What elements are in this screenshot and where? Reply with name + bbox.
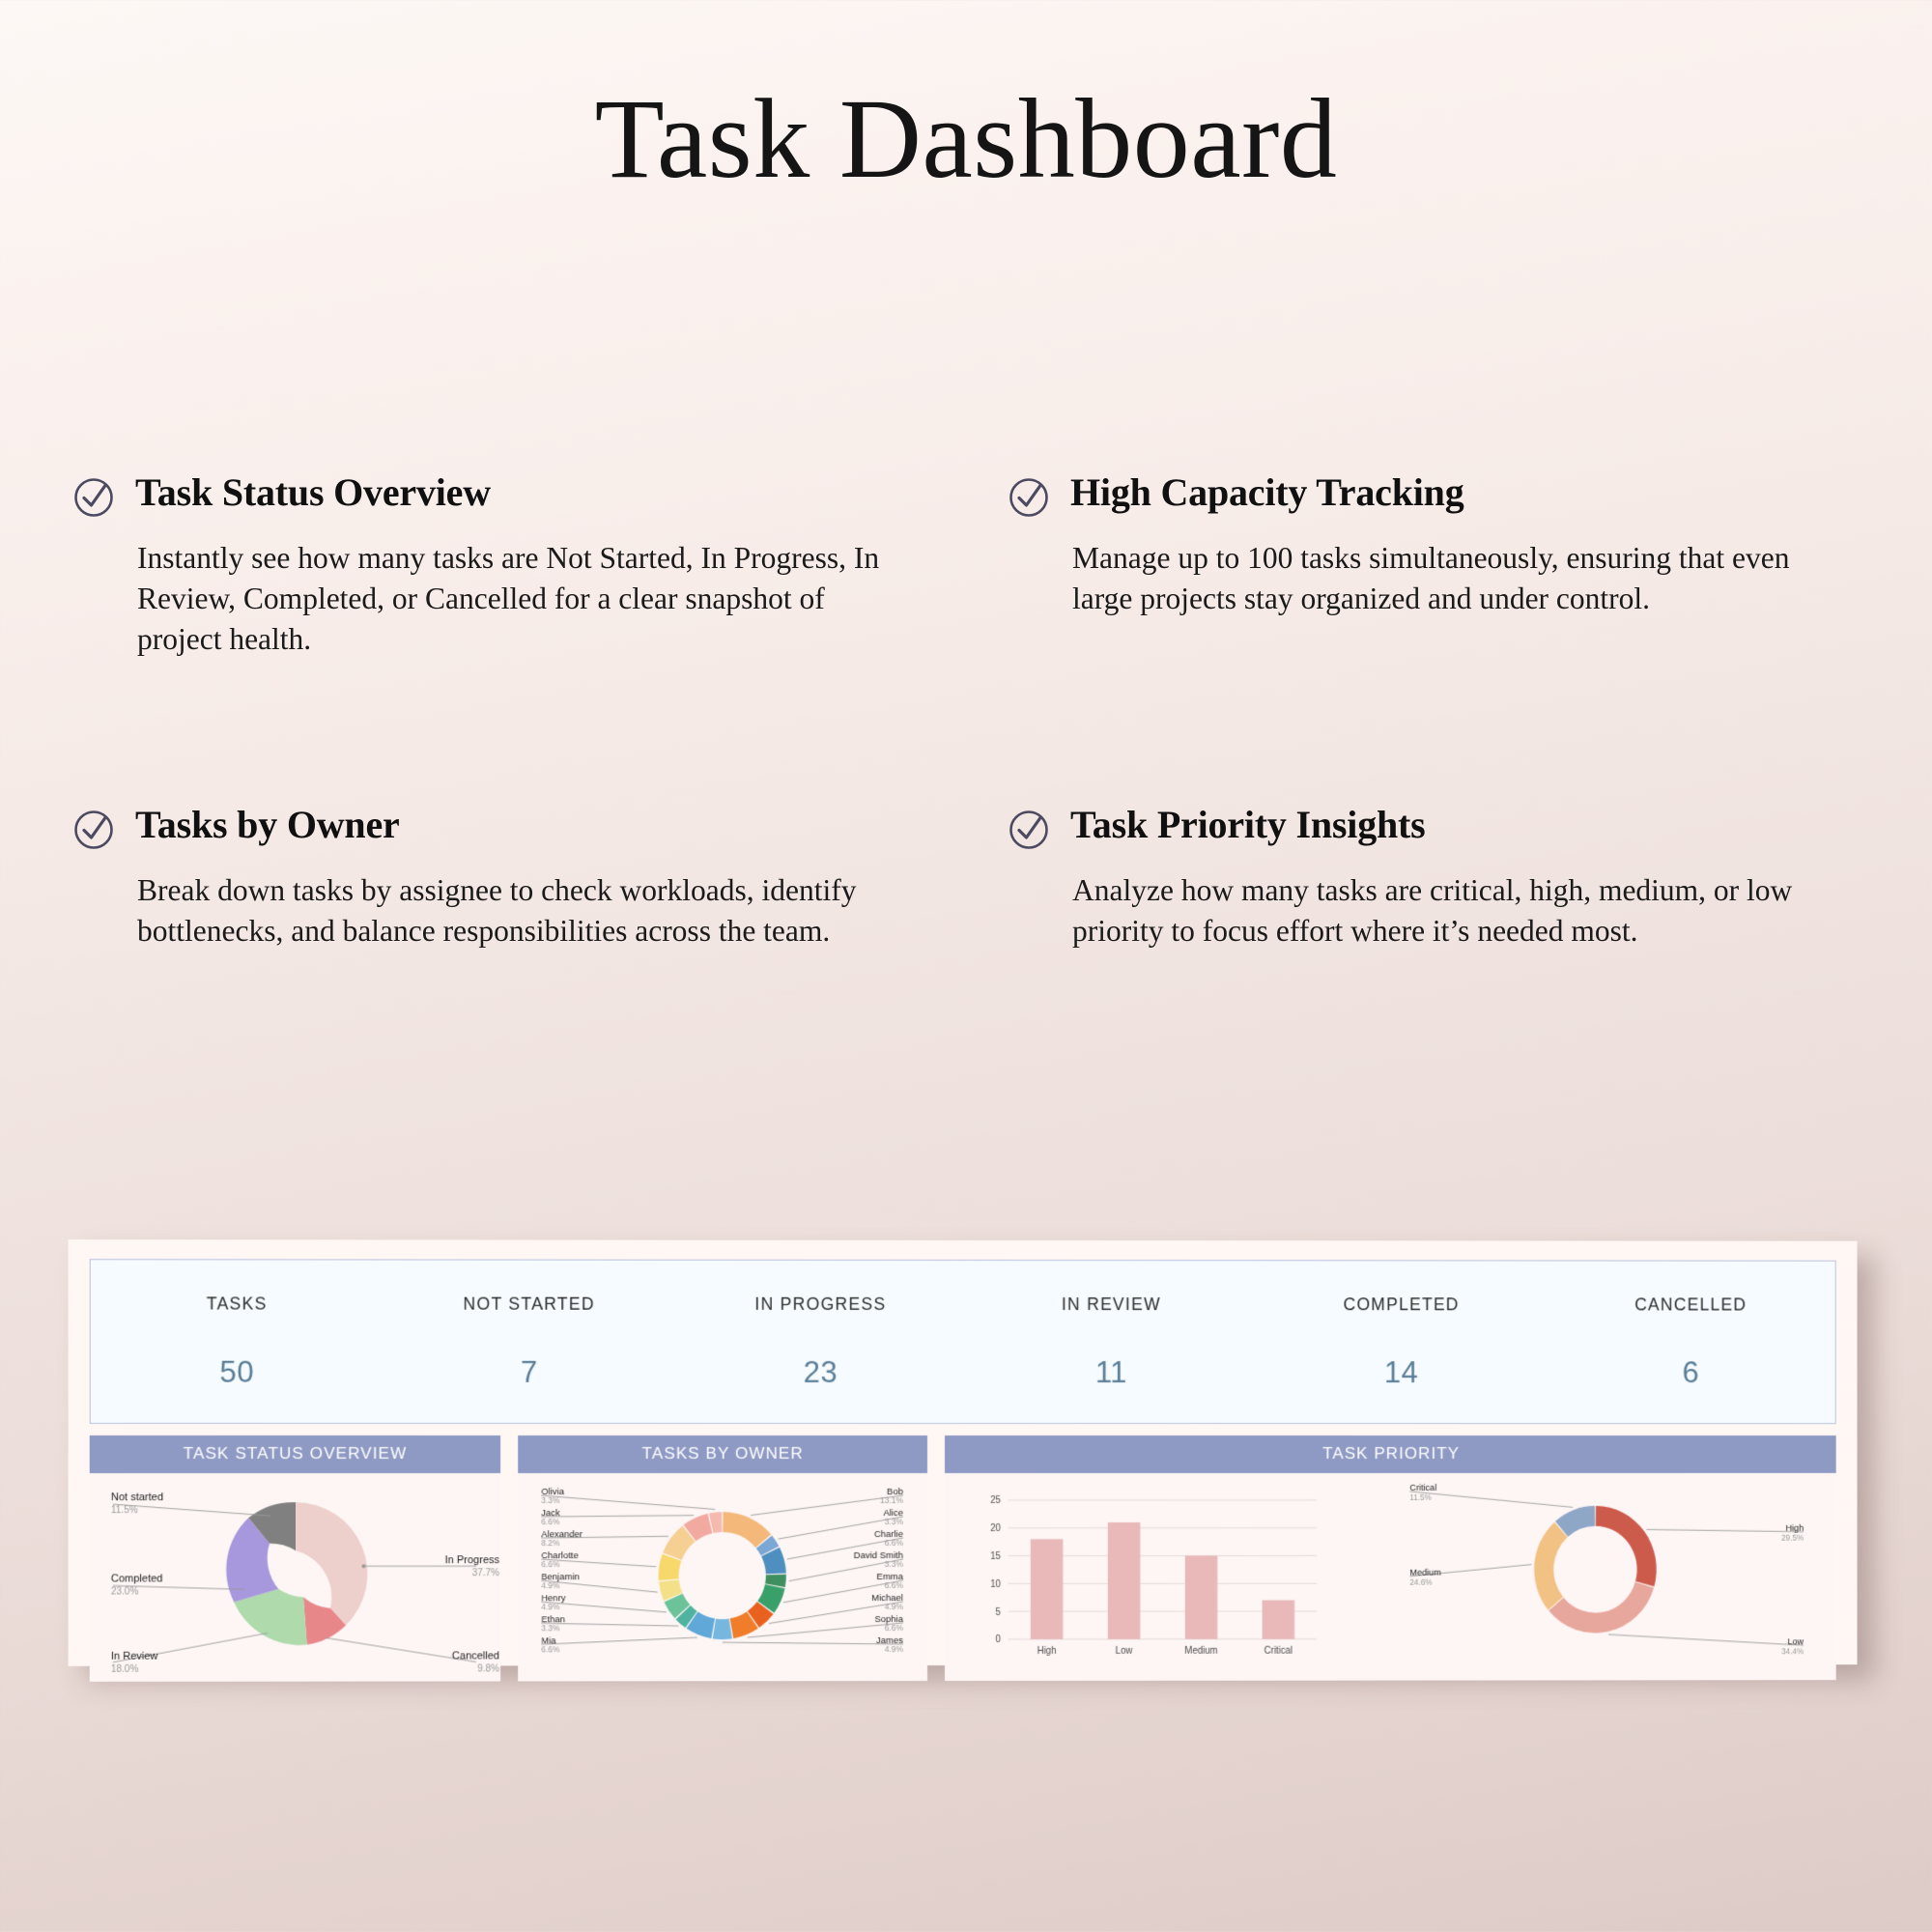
check-circle-icon xyxy=(73,477,114,523)
feature-header: Task Status Overview xyxy=(73,471,923,523)
panel-task-status-overview: TASK STATUS OVERVIEW xyxy=(90,1435,500,1682)
kpi-strip: TASKS 50 NOT STARTED 7 IN PROGRESS 23 IN… xyxy=(90,1259,1836,1424)
x-tick-label: Critical xyxy=(1264,1646,1293,1657)
priority-label-name: Low xyxy=(1787,1636,1804,1646)
bar-y-axis-ticks: 0510152025 xyxy=(990,1495,1001,1645)
kpi-in-review: IN REVIEW 11 xyxy=(966,1294,1257,1390)
owner-label-pct: 3.3% xyxy=(885,1559,904,1569)
x-tick-label: Low xyxy=(1116,1646,1134,1657)
leader-line-critical xyxy=(1409,1492,1573,1507)
panel-body: Not started 11.5% Completed 23.0% In Rev… xyxy=(90,1473,500,1682)
label-cancelled-pct: 9.8% xyxy=(477,1663,499,1674)
kpi-label: CANCELLED xyxy=(1547,1294,1835,1315)
label-in-review-pct: 18.0% xyxy=(111,1664,139,1675)
donut-slice-high xyxy=(1596,1506,1657,1587)
kpi-cancelled: CANCELLED 6 xyxy=(1547,1294,1835,1390)
feature-body: Break down tasks by assignee to check wo… xyxy=(137,870,910,952)
priority-label-name: Critical xyxy=(1409,1483,1436,1492)
check-circle-icon xyxy=(73,810,114,855)
leader-line-olivia xyxy=(541,1495,715,1509)
feature-body: Instantly see how many tasks are Not Sta… xyxy=(137,538,910,661)
check-circle-icon xyxy=(1009,477,1049,523)
label-not-started-name: Not started xyxy=(111,1492,163,1503)
y-tick-label: 0 xyxy=(996,1634,1002,1645)
bar-x-axis-ticks: HighLowMediumCritical xyxy=(1037,1646,1293,1657)
priority-label-pct: 29.5% xyxy=(1781,1533,1804,1543)
kpi-value: 6 xyxy=(1547,1355,1835,1390)
label-in-progress-name: In Progress xyxy=(445,1554,500,1566)
owner-label-pct: 4.9% xyxy=(885,1644,904,1654)
feature-header: Tasks by Owner xyxy=(73,804,923,855)
y-tick-label: 5 xyxy=(996,1607,1002,1618)
label-in-progress-pct: 37.7% xyxy=(472,1568,500,1578)
donut-slice-low xyxy=(1548,1582,1654,1634)
feature-task-status-overview: Task Status Overview Instantly see how m… xyxy=(73,471,923,661)
owner-donut-chart: Bob13.1%Alice3.3%Charlie6.6%David Smith3… xyxy=(518,1473,927,1681)
priority-label-pct: 34.4% xyxy=(1781,1646,1804,1656)
page-title: Task Dashboard xyxy=(0,73,1932,205)
panel-task-priority: TASK PRIORITY 0510152025 HighLowMediumCr… xyxy=(945,1435,1836,1681)
priority-donut-chart: High29.5%Low34.4%Medium24.6%Critical11.5… xyxy=(1409,1483,1804,1657)
priority-label-pct: 11.5% xyxy=(1409,1492,1432,1502)
feature-grid: Task Status Overview Instantly see how m… xyxy=(73,471,1859,952)
owner-label-pct: 4.9% xyxy=(541,1580,560,1590)
panel-body: 0510152025 HighLowMediumCritical High29.… xyxy=(945,1473,1836,1681)
bar-critical xyxy=(1263,1600,1295,1638)
check-circle-icon xyxy=(1009,810,1049,855)
owner-label-pct: 6.6% xyxy=(541,1559,560,1569)
feature-title: Task Priority Insights xyxy=(1070,804,1426,846)
kpi-not-started: NOT STARTED 7 xyxy=(384,1293,675,1389)
owner-label-pct: 6.6% xyxy=(541,1517,560,1526)
feature-task-priority-insights: Task Priority Insights Analyze how many … xyxy=(1009,804,1859,952)
kpi-label: NOT STARTED xyxy=(384,1293,675,1314)
label-not-started-pct: 11.5% xyxy=(111,1505,138,1516)
bar-high xyxy=(1031,1539,1064,1639)
donut-slices xyxy=(659,1512,786,1639)
owner-label-pct: 6.6% xyxy=(541,1644,560,1654)
owner-label-pct: 3.3% xyxy=(541,1623,560,1633)
owner-label-pct: 6.6% xyxy=(885,1623,904,1633)
status-donut-chart: Not started 11.5% Completed 23.0% In Rev… xyxy=(90,1473,500,1682)
y-tick-label: 20 xyxy=(990,1523,1001,1534)
owner-label-pct: 4.9% xyxy=(541,1602,560,1611)
owner-label-pct: 8.2% xyxy=(541,1538,560,1548)
feature-high-capacity-tracking: High Capacity Tracking Manage up to 100 … xyxy=(1009,471,1859,661)
priority-bar-chart: 0510152025 HighLowMediumCritical xyxy=(990,1495,1317,1657)
kpi-label: IN PROGRESS xyxy=(675,1293,966,1314)
donut-slice-medium xyxy=(1534,1522,1568,1610)
feature-tasks-by-owner: Tasks by Owner Break down tasks by assig… xyxy=(73,804,923,952)
kpi-value: 14 xyxy=(1257,1355,1547,1390)
bar-series xyxy=(1031,1522,1294,1639)
y-tick-label: 25 xyxy=(990,1495,1001,1506)
leader-line-high xyxy=(1646,1529,1804,1531)
label-completed-pct: 23.0% xyxy=(111,1586,139,1597)
owner-label-pct: 13.1% xyxy=(880,1495,904,1505)
dashboard-screenshot: TASKS 50 NOT STARTED 7 IN PROGRESS 23 IN… xyxy=(69,1239,1858,1666)
feature-body: Manage up to 100 tasks simultaneously, e… xyxy=(1072,538,1835,619)
kpi-value: 7 xyxy=(384,1354,675,1389)
owner-label-pct: 3.3% xyxy=(885,1517,904,1526)
leader-line-mia xyxy=(541,1637,697,1644)
y-tick-label: 10 xyxy=(990,1579,1001,1590)
feature-title: Tasks by Owner xyxy=(135,804,400,846)
feature-body: Analyze how many tasks are critical, hig… xyxy=(1072,870,1835,952)
owner-label-pct: 6.6% xyxy=(885,1538,904,1548)
priority-charts: 0510152025 HighLowMediumCritical High29.… xyxy=(945,1473,1836,1681)
kpi-value: 50 xyxy=(91,1354,384,1389)
kpi-value: 11 xyxy=(966,1355,1257,1390)
donut-slice-james xyxy=(713,1619,732,1640)
kpi-label: TASKS xyxy=(91,1293,384,1314)
label-cancelled-name: Cancelled xyxy=(452,1650,499,1662)
kpi-completed: COMPLETED 14 xyxy=(1257,1294,1547,1390)
panel-body: Bob13.1%Alice3.3%Charlie6.6%David Smith3… xyxy=(518,1473,927,1681)
panel-title: TASKS BY OWNER xyxy=(518,1435,927,1473)
charts-row: TASK STATUS OVERVIEW xyxy=(90,1435,1836,1678)
kpi-in-progress: IN PROGRESS 23 xyxy=(675,1293,966,1389)
x-tick-label: High xyxy=(1037,1646,1057,1657)
panel-tasks-by-owner: TASKS BY OWNER Bob13.1%Alice3.3%Charlie6… xyxy=(518,1435,927,1681)
label-in-review-name: In Review xyxy=(111,1651,158,1662)
panel-title: TASK PRIORITY xyxy=(945,1435,1836,1473)
owner-label-pct: 4.9% xyxy=(885,1602,904,1611)
feature-title: High Capacity Tracking xyxy=(1070,471,1464,514)
leader-line-low xyxy=(1608,1634,1804,1646)
y-tick-label: 15 xyxy=(990,1551,1001,1562)
donut-slices xyxy=(1534,1506,1657,1634)
feature-header: High Capacity Tracking xyxy=(1009,471,1859,523)
kpi-label: COMPLETED xyxy=(1257,1294,1547,1315)
priority-label-name: Medium xyxy=(1409,1568,1441,1577)
panel-title: TASK STATUS OVERVIEW xyxy=(90,1435,500,1473)
x-tick-label: Medium xyxy=(1184,1646,1217,1657)
kpi-label: IN REVIEW xyxy=(966,1294,1257,1315)
donut-slices xyxy=(226,1502,367,1645)
owner-label-pct: 3.3% xyxy=(541,1495,560,1505)
bar-medium xyxy=(1185,1555,1218,1638)
feature-title: Task Status Overview xyxy=(135,471,491,514)
priority-label-name: High xyxy=(1785,1523,1804,1533)
feature-header: Task Priority Insights xyxy=(1009,804,1859,855)
kpi-value: 23 xyxy=(675,1354,966,1389)
bar-low xyxy=(1108,1522,1141,1639)
priority-label-pct: 24.6% xyxy=(1409,1577,1433,1587)
kpi-tasks: TASKS 50 xyxy=(91,1293,384,1389)
leader-line-jack xyxy=(541,1516,694,1517)
owner-label-pct: 6.6% xyxy=(885,1580,904,1590)
label-completed-name: Completed xyxy=(111,1573,163,1584)
